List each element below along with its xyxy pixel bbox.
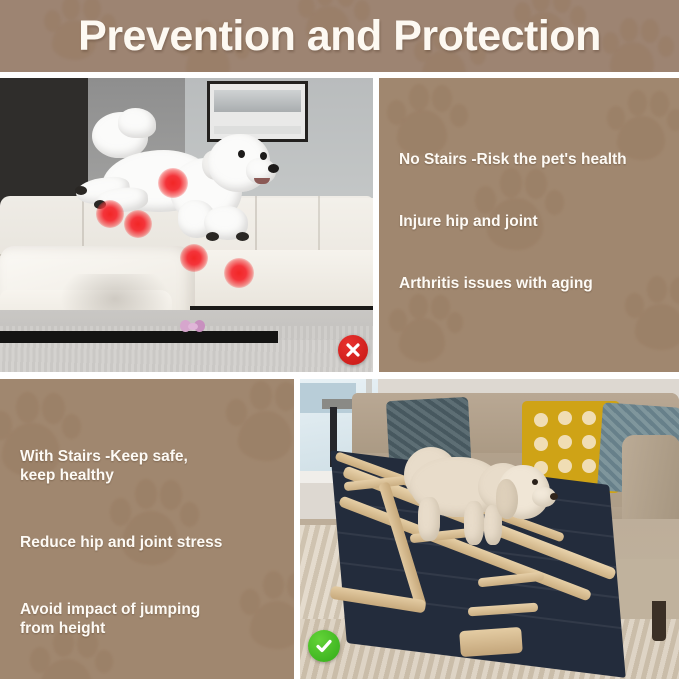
- risk-line-2: Injure hip and joint: [399, 212, 667, 231]
- paw-print-icon: [387, 82, 465, 160]
- with-ramp-photo: [300, 379, 679, 679]
- ramp-bottom-end: [459, 627, 523, 657]
- risk-text-panel: No Stairs -Risk the pet's health Injure …: [379, 78, 679, 372]
- dog-toy: [180, 318, 206, 334]
- pain-point-marker: [158, 168, 188, 198]
- risk-line-3: Arthritis issues with aging: [399, 274, 667, 293]
- check-mark-icon: [314, 636, 334, 656]
- success-badge[interactable]: [308, 630, 340, 662]
- no-stairs-photo: [0, 78, 373, 372]
- risk-text-list: No Stairs -Risk the pet's health Injure …: [399, 150, 667, 293]
- paw-print-icon: [389, 292, 461, 366]
- x-mark-icon: [344, 341, 362, 359]
- benefit-line-2: Reduce hip and joint stress: [20, 533, 282, 552]
- dog-on-ramp: [404, 439, 544, 559]
- benefit-text-list: With Stairs -Keep safe, keep healthy Red…: [20, 447, 282, 679]
- sofa-leg: [652, 601, 666, 641]
- sofa-base: [0, 331, 278, 343]
- living-room-scene: [0, 78, 373, 372]
- sofa-seam: [318, 196, 320, 254]
- pain-point-marker: [96, 200, 124, 228]
- pain-point-marker: [124, 210, 152, 238]
- ramp-scene: [300, 379, 679, 679]
- risk-line-1: No Stairs -Risk the pet's health: [399, 150, 667, 169]
- pain-point-marker: [224, 258, 254, 288]
- benefit-text-panel: With Stairs -Keep safe, keep healthy Red…: [0, 379, 294, 679]
- error-badge[interactable]: [338, 335, 368, 365]
- pain-point-marker: [180, 244, 208, 272]
- rug-foreground: [0, 340, 373, 372]
- benefit-line-3: Avoid impact of jumping from height: [20, 600, 282, 638]
- page-title: Prevention and Protection: [0, 0, 679, 72]
- header-banner: Prevention and Protection: [0, 0, 679, 72]
- infographic-root: Prevention and Protection: [0, 0, 679, 679]
- wall-dark: [0, 78, 88, 206]
- benefit-line-1: With Stairs -Keep safe, keep healthy: [20, 447, 282, 485]
